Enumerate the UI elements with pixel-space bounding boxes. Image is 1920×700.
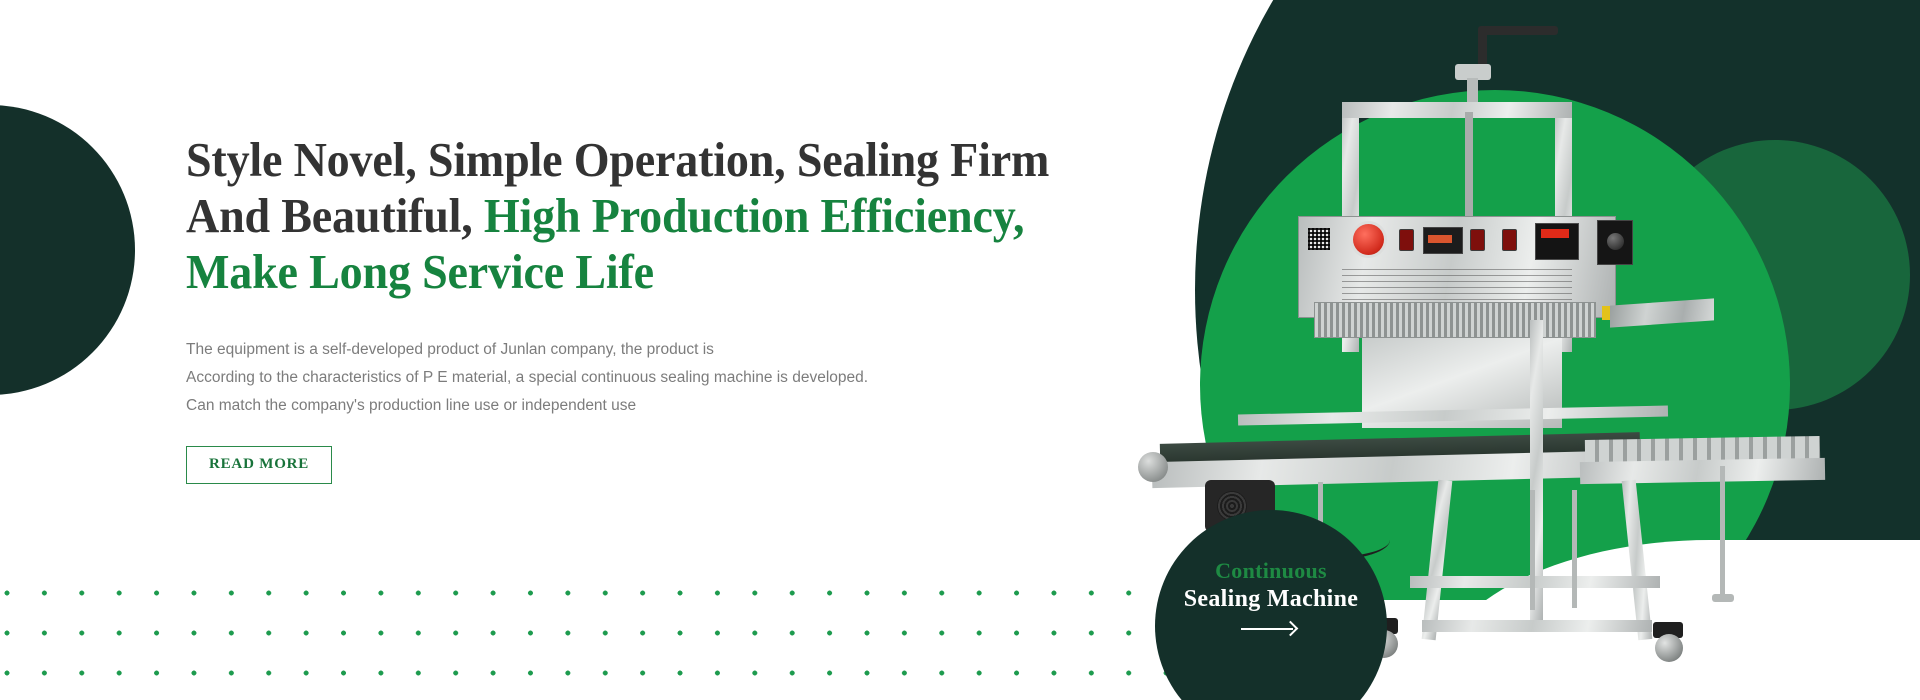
- machine-support-rod-4: [1720, 466, 1725, 596]
- arrow-right-icon: [1241, 622, 1301, 636]
- machine-support-rod-3: [1572, 490, 1577, 608]
- badge-title-line-1: Continuous: [1215, 558, 1327, 584]
- machine-switch-1: [1399, 229, 1414, 251]
- page-title: Style Novel, Simple Operation, Sealing F…: [186, 132, 1070, 300]
- machine-leg-crossbar-lower: [1422, 620, 1652, 632]
- qr-code-icon: [1308, 228, 1330, 250]
- badge-title-line-2: Sealing Machine: [1184, 584, 1359, 614]
- hero-description-line-1: The equipment is a self-developed produc…: [186, 336, 1126, 364]
- machine-crank-arm: [1478, 26, 1487, 68]
- machine-side-tray: [1610, 298, 1714, 327]
- machine-support-rod-2: [1530, 490, 1535, 610]
- decorative-dark-circle-left: [0, 105, 135, 395]
- machine-belt-pulley: [1138, 452, 1168, 482]
- machine-speed-knob: [1607, 233, 1624, 250]
- read-more-button[interactable]: READ MORE: [186, 446, 332, 484]
- machine-leg-right: [1622, 480, 1653, 641]
- machine-caster-right: [1655, 634, 1683, 662]
- hero-description-line-2: According to the characteristics of P E …: [186, 364, 1126, 392]
- hero-description: The equipment is a self-developed produc…: [186, 336, 1126, 420]
- machine-switch-2: [1470, 229, 1485, 251]
- machine-rod-foot-4: [1712, 594, 1734, 602]
- machine-vent-grille: [1314, 302, 1596, 338]
- machine-leg-left: [1422, 480, 1453, 641]
- decorative-dot-grid: [0, 584, 1180, 700]
- machine-frame-top: [1342, 102, 1572, 118]
- machine-switch-3: [1502, 229, 1517, 251]
- machine-spec-label: [1342, 266, 1572, 300]
- machine-temperature-display: [1535, 223, 1579, 260]
- emergency-stop-button: [1353, 224, 1384, 255]
- machine-meter-display: [1423, 227, 1463, 254]
- hero-banner: Style Novel, Simple Operation, Sealing F…: [0, 0, 1920, 700]
- machine-crank-handle: [1482, 26, 1558, 35]
- machine-leg-crossbar-upper: [1410, 576, 1660, 588]
- hero-text-column: Style Novel, Simple Operation, Sealing F…: [186, 132, 1126, 484]
- machine-roller-frame: [1580, 458, 1825, 484]
- hero-description-line-3: Can match the company's production line …: [186, 392, 1126, 420]
